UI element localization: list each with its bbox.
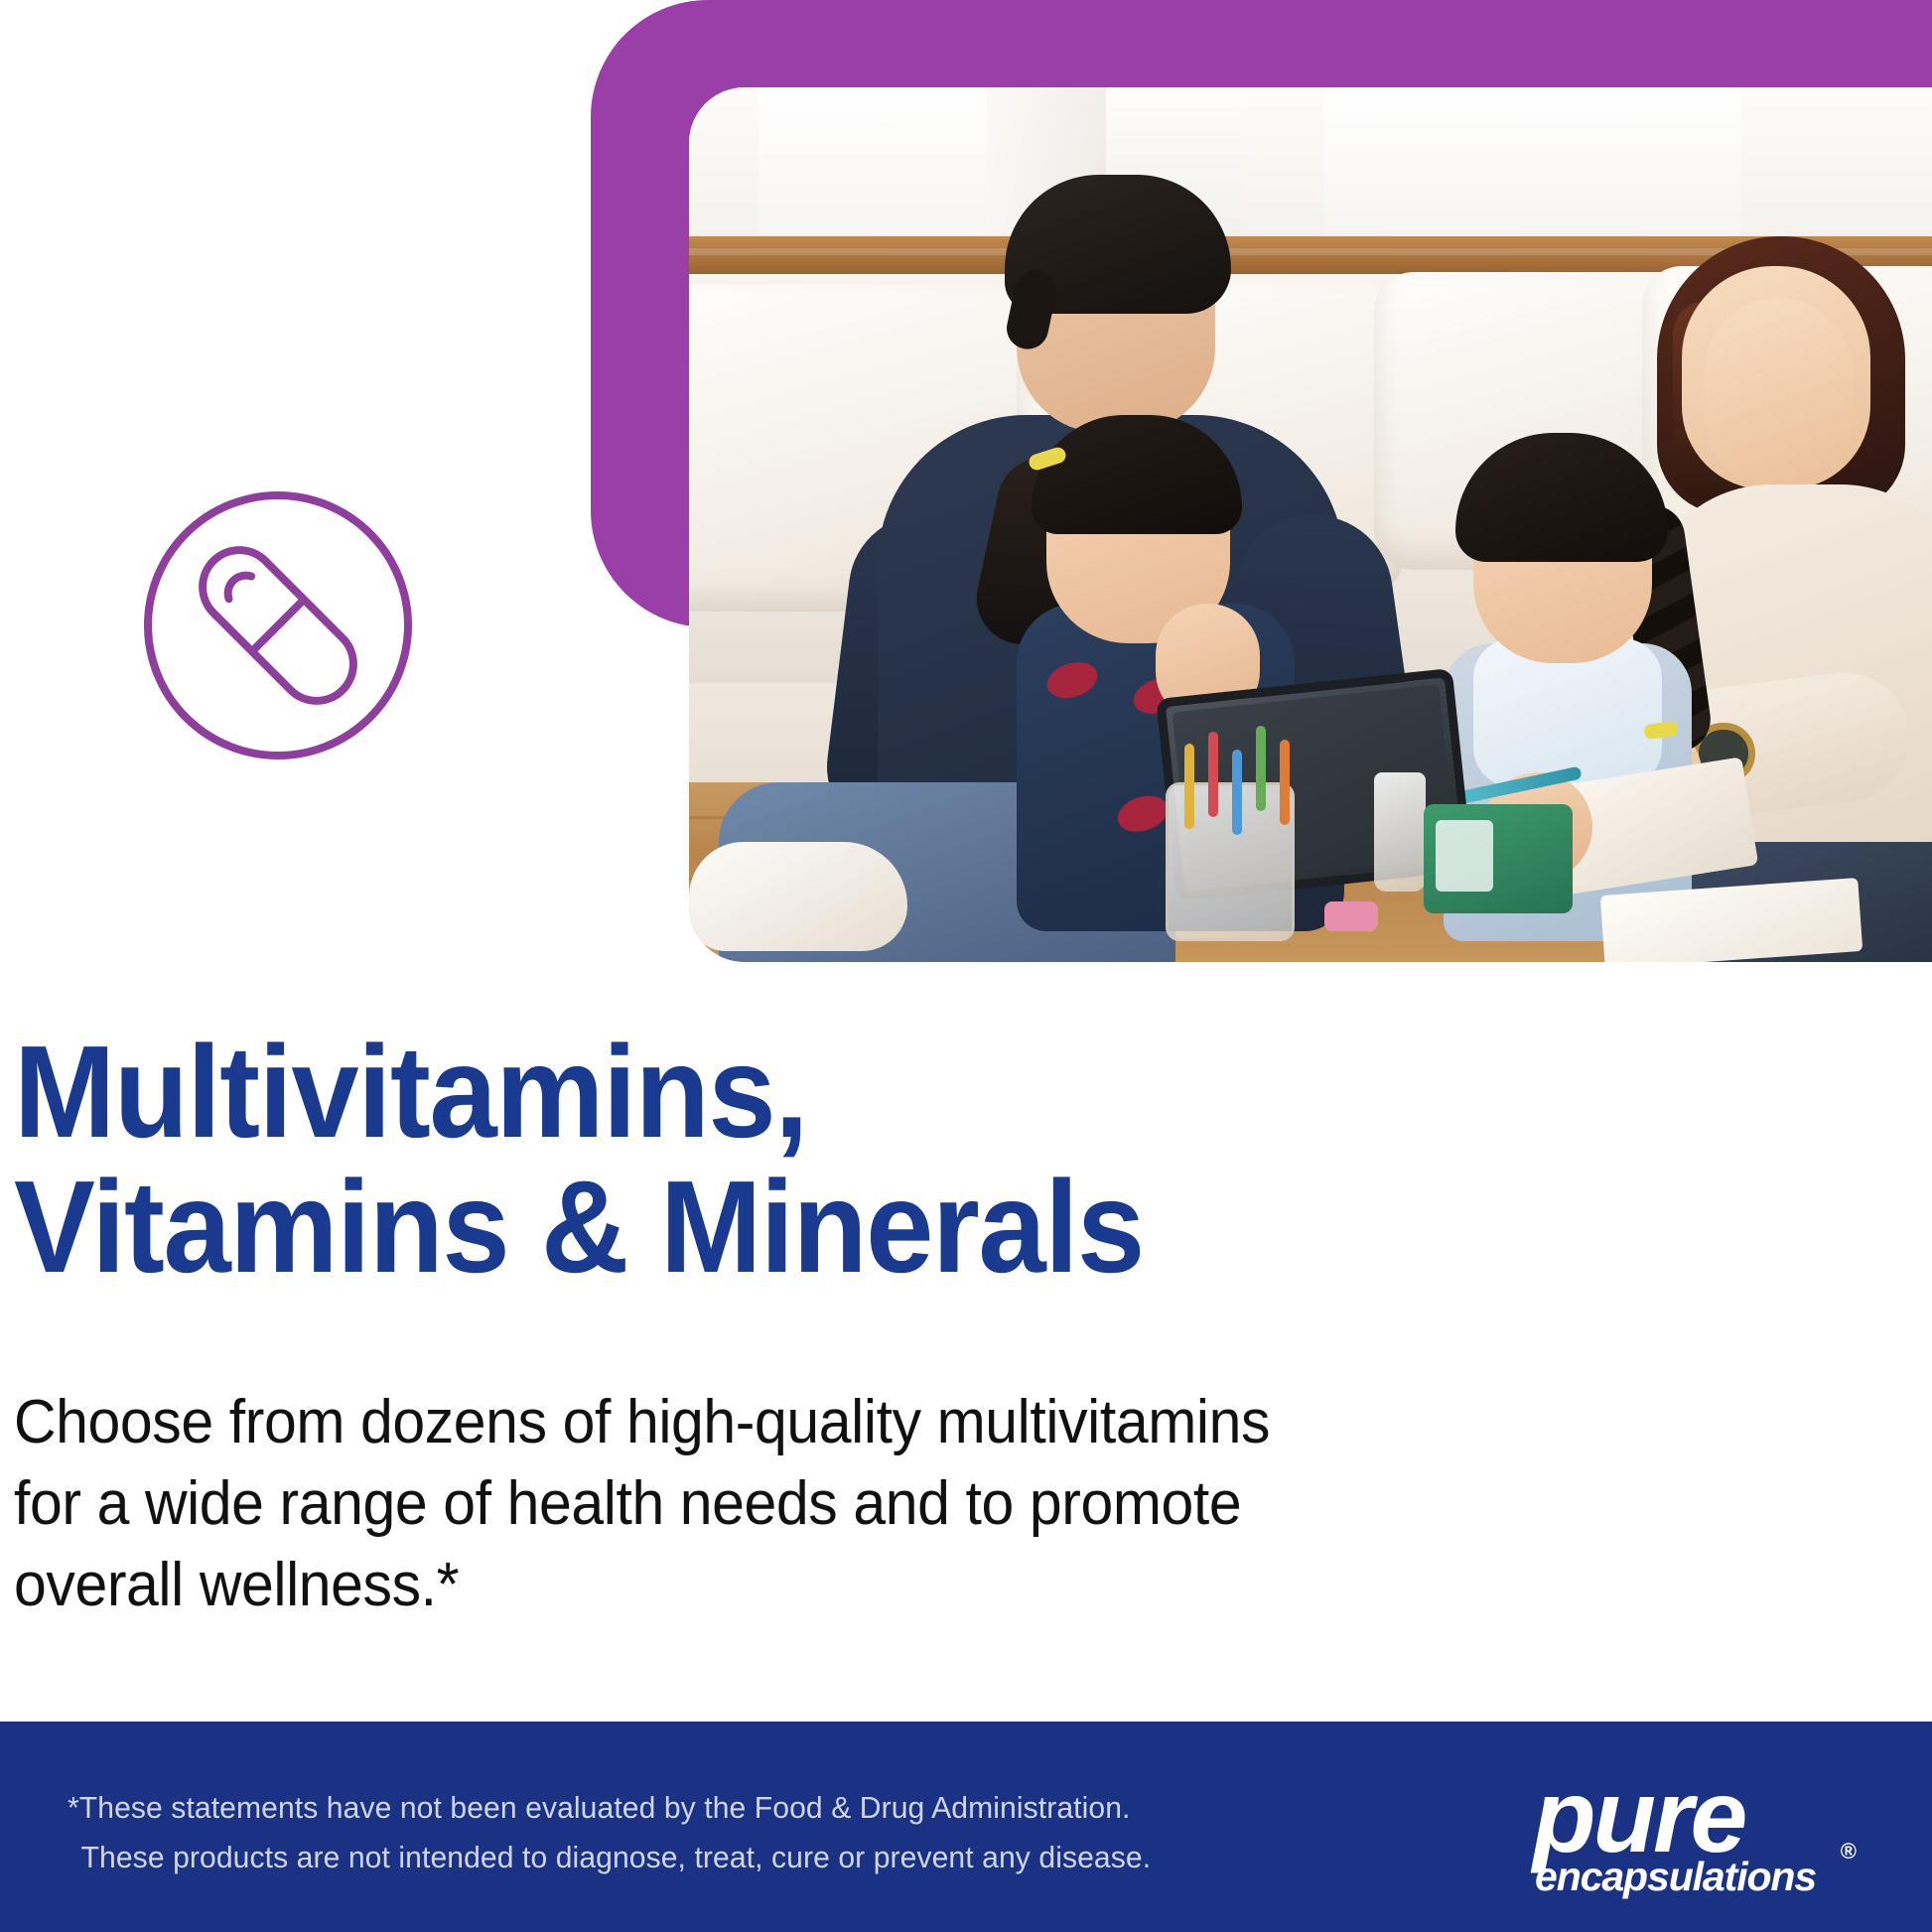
hero-photo — [689, 87, 1932, 962]
photo-bottle — [1374, 772, 1426, 892]
logo-subwordmark: encapsulations — [1535, 1857, 1863, 1897]
photo-eraser — [1324, 901, 1378, 931]
subcopy-line-2: for a wide range of health needs and to … — [14, 1463, 1674, 1545]
subcopy-line-1: Choose from dozens of high-quality multi… — [14, 1382, 1674, 1463]
photo-father-hair — [1005, 175, 1231, 314]
disclaimer-line-1: *These statements have not been evaluate… — [68, 1783, 1272, 1833]
pure-encapsulations-logo: pure ® encapsulations — [1533, 1765, 1861, 1894]
photo-mother-face — [1704, 298, 1853, 486]
photo-father-foot — [689, 842, 907, 951]
capsule-icon — [139, 486, 417, 764]
photo-pencil-jar — [1166, 782, 1295, 941]
subcopy-line-3: overall wellness.* — [14, 1545, 1674, 1626]
photo-scene — [689, 87, 1932, 962]
disclaimer-line-2: These products are not intended to diagn… — [68, 1833, 1272, 1882]
description-text: Choose from dozens of high-quality multi… — [14, 1382, 1674, 1625]
footer-bar: *These statements have not been evaluate… — [0, 1722, 1932, 1932]
photo-window — [1324, 87, 1741, 236]
headline-line-2: Vitamins & Minerals — [14, 1160, 1584, 1295]
page-title: Multivitamins, Vitamins & Minerals — [14, 1025, 1584, 1295]
photo-sharpener — [1424, 804, 1573, 913]
headline-line-1: Multivitamins, — [14, 1025, 1584, 1160]
disclaimer-text: *These statements have not been evaluate… — [68, 1783, 1272, 1881]
photo-window — [759, 87, 1017, 254]
